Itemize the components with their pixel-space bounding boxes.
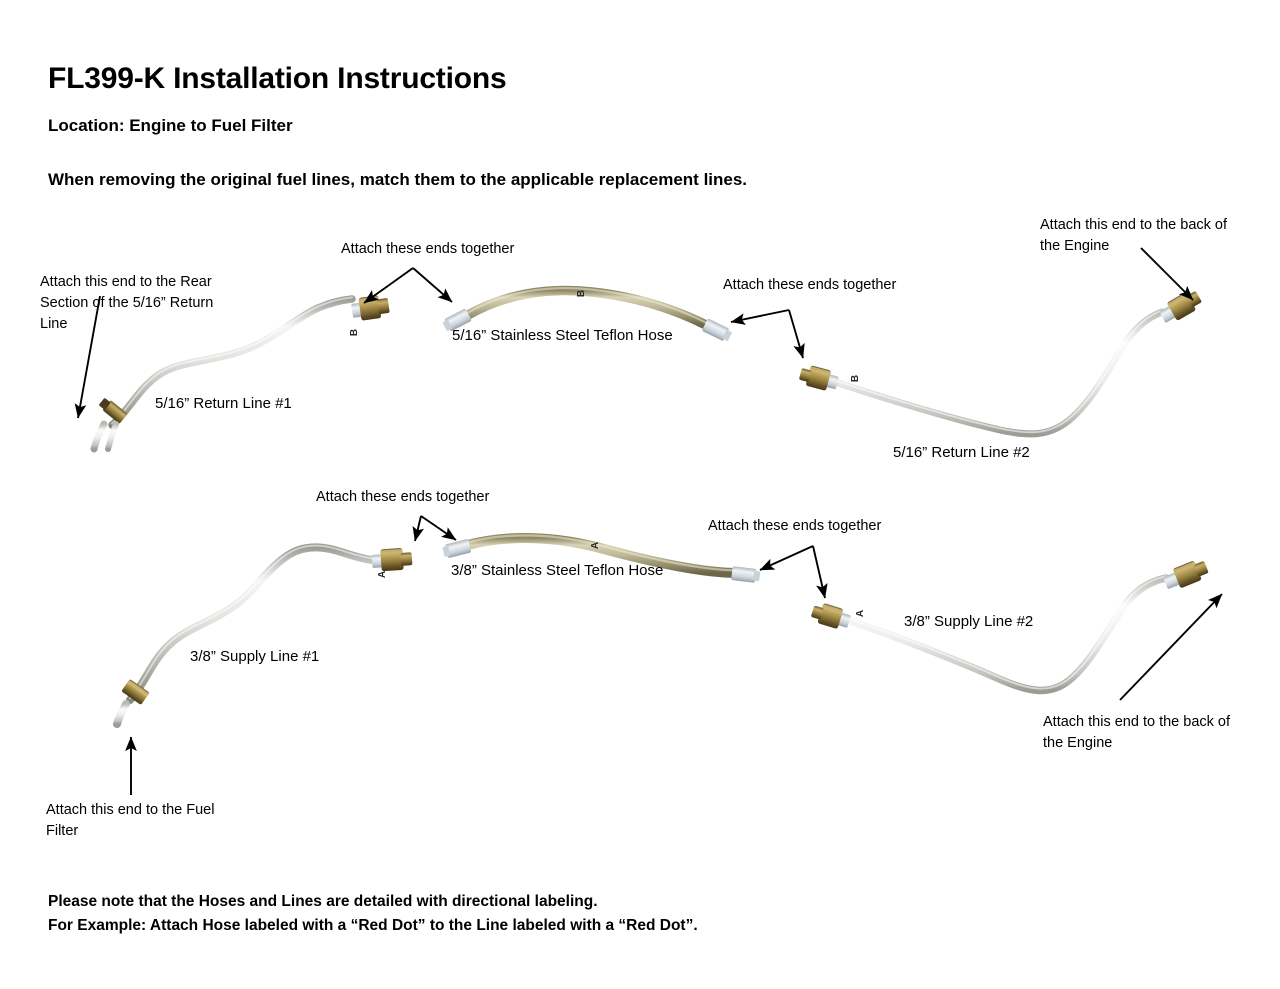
arrow-top-join-left-a (364, 268, 413, 303)
callout-bottom-right-end: Attach this end to the back of the Engin… (1043, 712, 1268, 754)
footer-note-line-2: For Example: Attach Hose labeled with a … (48, 917, 698, 935)
arrow-bottom-join-right-a (760, 546, 813, 570)
arrow-top-join-right-b (789, 310, 803, 358)
arrow-bottom-join-left-b (421, 516, 456, 540)
callout-top-right-end: Attach this end to the back of the Engin… (1040, 215, 1265, 257)
callout-bottom-join-right: Attach these ends together (708, 516, 881, 537)
footer-note-line-1: Please note that the Hoses and Lines are… (48, 893, 598, 911)
callout-top-join-left: Attach these ends together (341, 239, 514, 260)
arrow-top-join-left-b (413, 268, 452, 302)
part-label-supply-line-1: 3/8” Supply Line #1 (190, 648, 319, 665)
callout-bottom-join-left: Attach these ends together (316, 487, 489, 508)
callout-top-left-end: Attach this end to the Rear Section of t… (40, 272, 255, 335)
direction-tag-516-teflon-hose: B (576, 290, 587, 297)
direction-tag-38-teflon-hose: A (590, 542, 601, 549)
instruction-text: When removing the original fuel lines, m… (48, 170, 747, 190)
part-label-supply-line-2: 3/8” Supply Line #2 (904, 613, 1033, 630)
direction-tag-supply-line-1: A (377, 571, 388, 578)
direction-tag-supply-line-2: A (855, 610, 866, 617)
part-label-516-teflon-hose: 5/16” Stainless Steel Teflon Hose (452, 327, 673, 344)
part-label-38-teflon-hose: 3/8” Stainless Steel Teflon Hose (451, 562, 663, 579)
installation-instructions-page: FL399-K Installation Instructions Locati… (0, 0, 1280, 989)
location-subtitle: Location: Engine to Fuel Filter (48, 116, 293, 136)
page-title: FL399-K Installation Instructions (48, 62, 506, 96)
part-return-line-2 (798, 287, 1204, 434)
part-label-return-line-1: 5/16” Return Line #1 (155, 395, 292, 412)
callout-top-join-right: Attach these ends together (723, 275, 896, 296)
arrow-bottom-right-end (1120, 594, 1222, 700)
arrow-bottom-join-right-b (813, 546, 825, 598)
arrow-top-join-right-a (731, 310, 789, 322)
direction-tag-return-line-2: B (850, 375, 861, 382)
callout-bottom-left-end: Attach this end to the Fuel Filter (46, 800, 261, 842)
part-label-return-line-2: 5/16” Return Line #2 (893, 444, 1030, 461)
direction-tag-return-line-1: B (349, 329, 360, 336)
arrow-bottom-join-left-a (415, 516, 421, 541)
part-supply-line-1 (117, 546, 413, 724)
